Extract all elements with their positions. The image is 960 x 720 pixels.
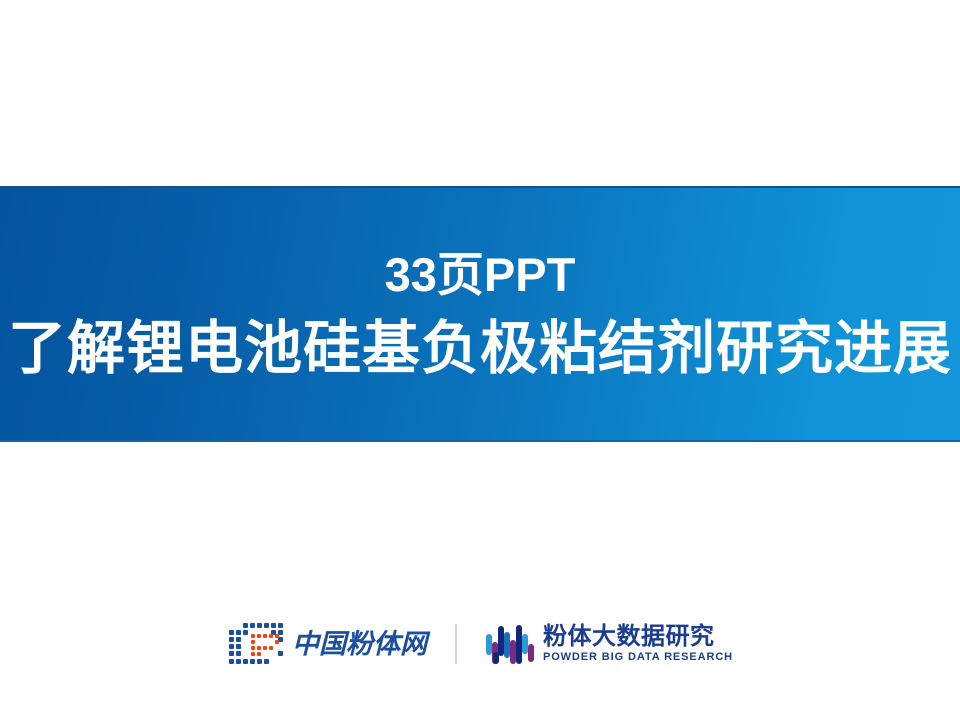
bar-chart-icon	[485, 620, 535, 668]
logo-divider	[455, 624, 457, 664]
slide-title-primary: 33页PPT	[385, 251, 576, 320]
logo-powder-big-data-label-en: POWDER BIG DATA RESEARCH	[543, 652, 733, 663]
slide-title-secondary: 了解锂电池硅基负极粘结剂研究进展	[0, 320, 960, 378]
presentation-slide: 33页PPT 了解锂电池硅基负极粘结剂研究进展	[0, 0, 960, 720]
logo-powder-big-data: 粉体大数据研究 POWDER BIG DATA RESEARCH	[485, 620, 733, 668]
footer-logo-strip: 中国粉体网 粉体大数据研究 POWDER BIG DATA RESEARCH	[0, 608, 960, 680]
title-banner: 33页PPT 了解锂电池硅基负极粘结剂研究进展	[0, 186, 960, 442]
logo-powder-china: 中国粉体网	[227, 621, 427, 667]
logo-powder-big-data-label-cn: 粉体大数据研究	[543, 625, 733, 649]
logo-powder-big-data-text: 粉体大数据研究 POWDER BIG DATA RESEARCH	[543, 625, 733, 663]
logo-powder-china-label: 中国粉体网	[292, 631, 427, 658]
pixel-cf-icon	[227, 621, 285, 667]
